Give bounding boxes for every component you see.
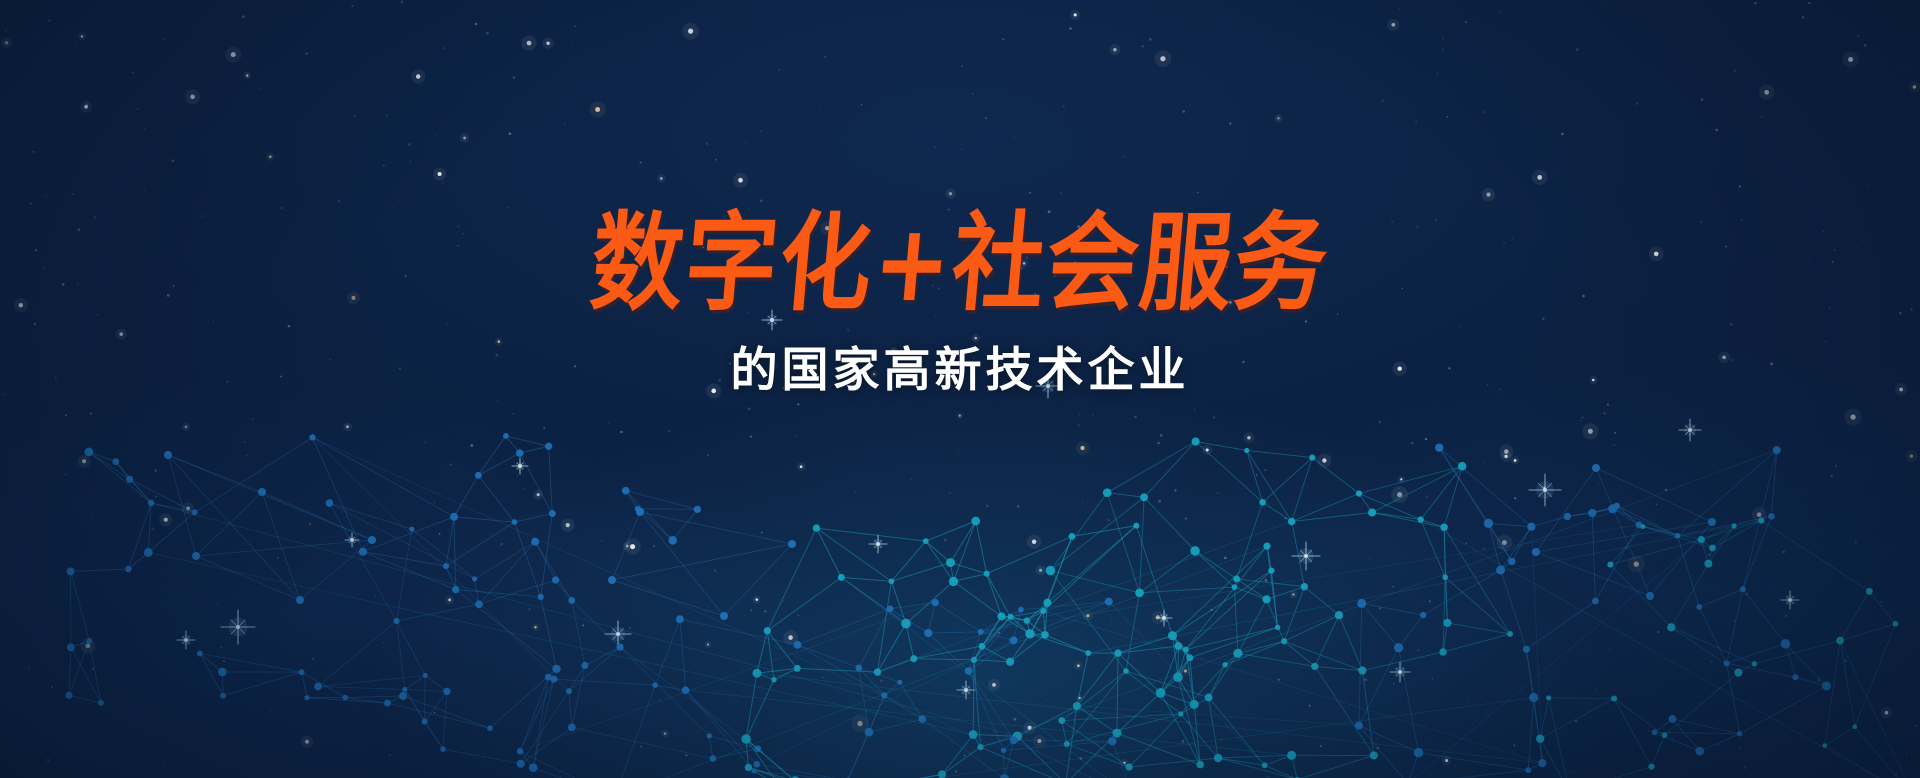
hero-banner: 数字化+社会服务 的国家高新技术企业	[0, 0, 1920, 778]
hero-text-block: 数字化+社会服务 的国家高新技术企业	[0, 216, 1920, 400]
hero-subheadline: 的国家高新技术企业	[0, 331, 1920, 400]
hero-headline: 数字化+社会服务	[0, 208, 1920, 320]
